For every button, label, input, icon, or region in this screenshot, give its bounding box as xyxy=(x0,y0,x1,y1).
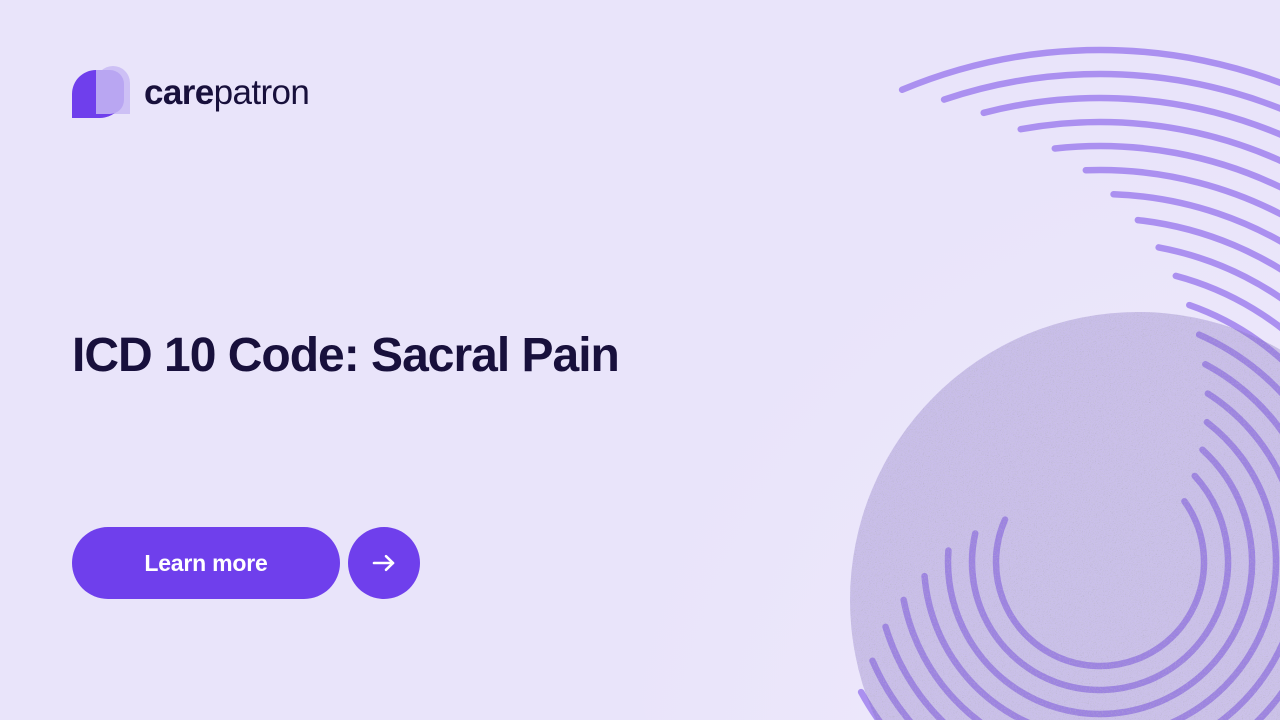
page-title: ICD 10 Code: Sacral Pain xyxy=(72,328,792,385)
carepatron-logo[interactable]: carepatron xyxy=(72,66,309,118)
carepatron-wordmark: carepatron xyxy=(144,75,309,110)
carepatron-logo-mark-icon xyxy=(72,66,130,118)
cta-group: Learn more xyxy=(72,527,420,599)
wordmark-bold: care xyxy=(144,73,214,112)
learn-more-button[interactable]: Learn more xyxy=(72,527,340,599)
arrow-right-icon xyxy=(369,548,399,578)
grain-circle-overlay xyxy=(850,312,1280,720)
artwork-halo xyxy=(640,82,1280,720)
wordmark-regular: patron xyxy=(214,73,310,112)
arrow-right-button[interactable] xyxy=(348,527,420,599)
hero-banner: carepatron ICD 10 Code: Sacral Pain Lear… xyxy=(0,0,1280,720)
logo-overlap-shape xyxy=(96,70,124,114)
